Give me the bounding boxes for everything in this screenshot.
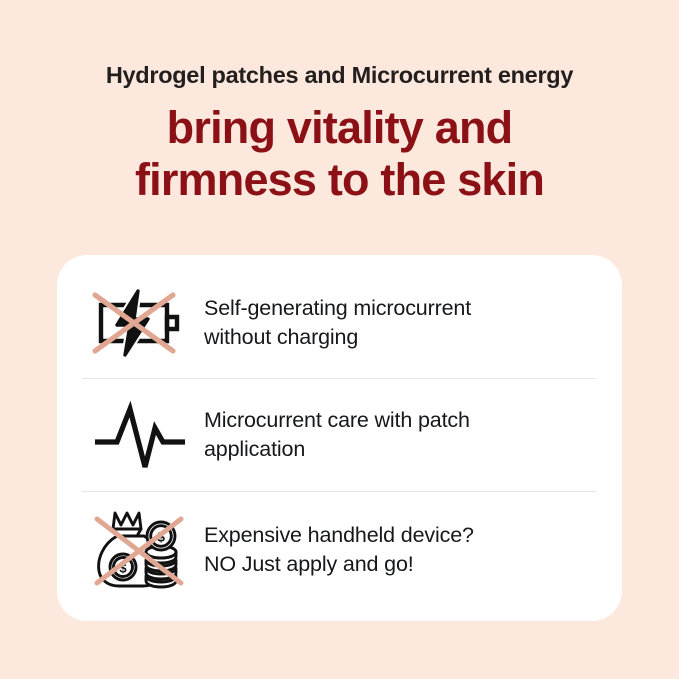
feature-text-line-2: NO Just apply and go! [204, 550, 474, 579]
feature-text-line-2: application [204, 435, 470, 464]
page-title: bring vitality and firmness to the skin [0, 102, 679, 206]
feature-row: Self-generating microcurrent without cha… [57, 268, 622, 378]
feature-text: Self-generating microcurrent without cha… [200, 294, 471, 352]
feature-card: Self-generating microcurrent without cha… [57, 255, 622, 621]
feature-row: Microcurrent care with patch application [57, 379, 622, 491]
promo-banner: Hydrogel patches and Microcurrent energy… [0, 0, 679, 679]
heading-block: Hydrogel patches and Microcurrent energy… [0, 60, 679, 206]
money-bag-coins-crossed-out-icon: $ $ [82, 507, 200, 593]
feature-text: Expensive handheld device? NO Just apply… [200, 521, 474, 579]
feature-text-line-1: Expensive handheld device? [204, 521, 474, 550]
eyebrow-heading: Hydrogel patches and Microcurrent energy [0, 60, 679, 90]
battery-charging-crossed-out-icon [82, 280, 200, 366]
pulse-waveform-icon [82, 392, 200, 478]
page-title-line-2: firmness to the skin [0, 154, 679, 206]
feature-text-line-1: Self-generating microcurrent [204, 294, 471, 323]
page-title-line-1: bring vitality and [0, 102, 679, 154]
feature-row: $ $ [57, 492, 622, 608]
feature-text-line-2: without charging [204, 323, 471, 352]
feature-text: Microcurrent care with patch application [200, 406, 470, 464]
feature-text-line-1: Microcurrent care with patch [204, 406, 470, 435]
